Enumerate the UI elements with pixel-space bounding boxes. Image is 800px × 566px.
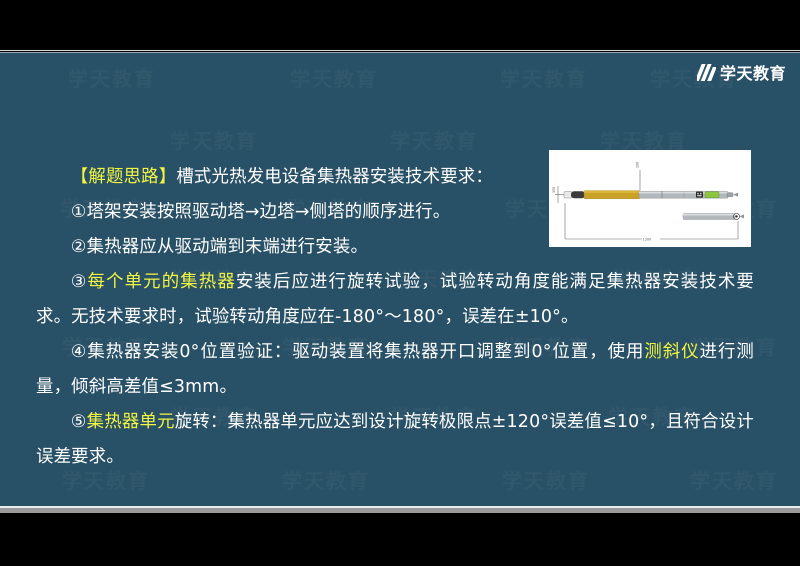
svg-text:1200: 1200 [643,238,652,242]
brand-name: 学天教育 [720,60,786,84]
item-4-highlight: 测斜仪 [644,342,699,362]
video-frame: 学天教育 学天教育 学天教育 学天教育 学天教育 学天教育 学天教育 学天教育 … [0,0,800,566]
slide-bottom-band [0,508,800,513]
brand-logo: 学天教育 [697,60,786,84]
svg-text:100: 100 [636,162,640,168]
item-4-text-a: ④集热器安装0°位置验证：驱动装置将集热器开口调整到0°位置，使用 [71,342,645,362]
heading-text: 槽式光热发电设备集热器安装技术要求： [176,167,493,187]
paragraph-item-4: ④集热器安装0°位置验证：驱动装置将集热器开口调整到0°位置，使用测斜仪进行测量… [0,335,800,405]
watermark: 学天教育 [68,63,156,92]
item-3-highlight: 每个单元的集热器 [88,272,236,292]
presentation-slide: 学天教育 学天教育 学天教育 学天教育 学天教育 学天教育 学天教育 学天教育 … [0,53,800,507]
torque-wrench-inclinometer-icon: 350 [550,151,750,246]
technical-drawing-figure: 350 [549,150,751,247]
item-5-marker: ⑤ [71,412,87,432]
paragraph-item-3: ③每个单元的集热器安装后应进行旋转试验，试验转动角度能满足集热器安装技术要求。无… [0,265,800,335]
paragraph-item-5: ⑤集热器单元旋转：集热器单元应达到设计旋转极限点±120°误差值≤10°，且符合… [0,405,800,475]
watermark: 学天教育 [290,63,378,92]
slanted-bars-icon [697,64,716,81]
item-5-highlight: 集热器单元 [87,412,175,432]
heading-label: 【解题思路】 [71,167,177,187]
item-1-text: ①塔架安装按照驱动塔→边塔→侧塔的顺序进行。 [71,202,451,222]
item-2-text: ②集热器应从驱动端到末端进行安装。 [71,237,368,257]
svg-text:350: 350 [552,187,556,193]
item-3-marker: ③ [71,272,88,292]
slide-top-divider [0,50,800,51]
watermark: 学天教育 [500,63,588,92]
